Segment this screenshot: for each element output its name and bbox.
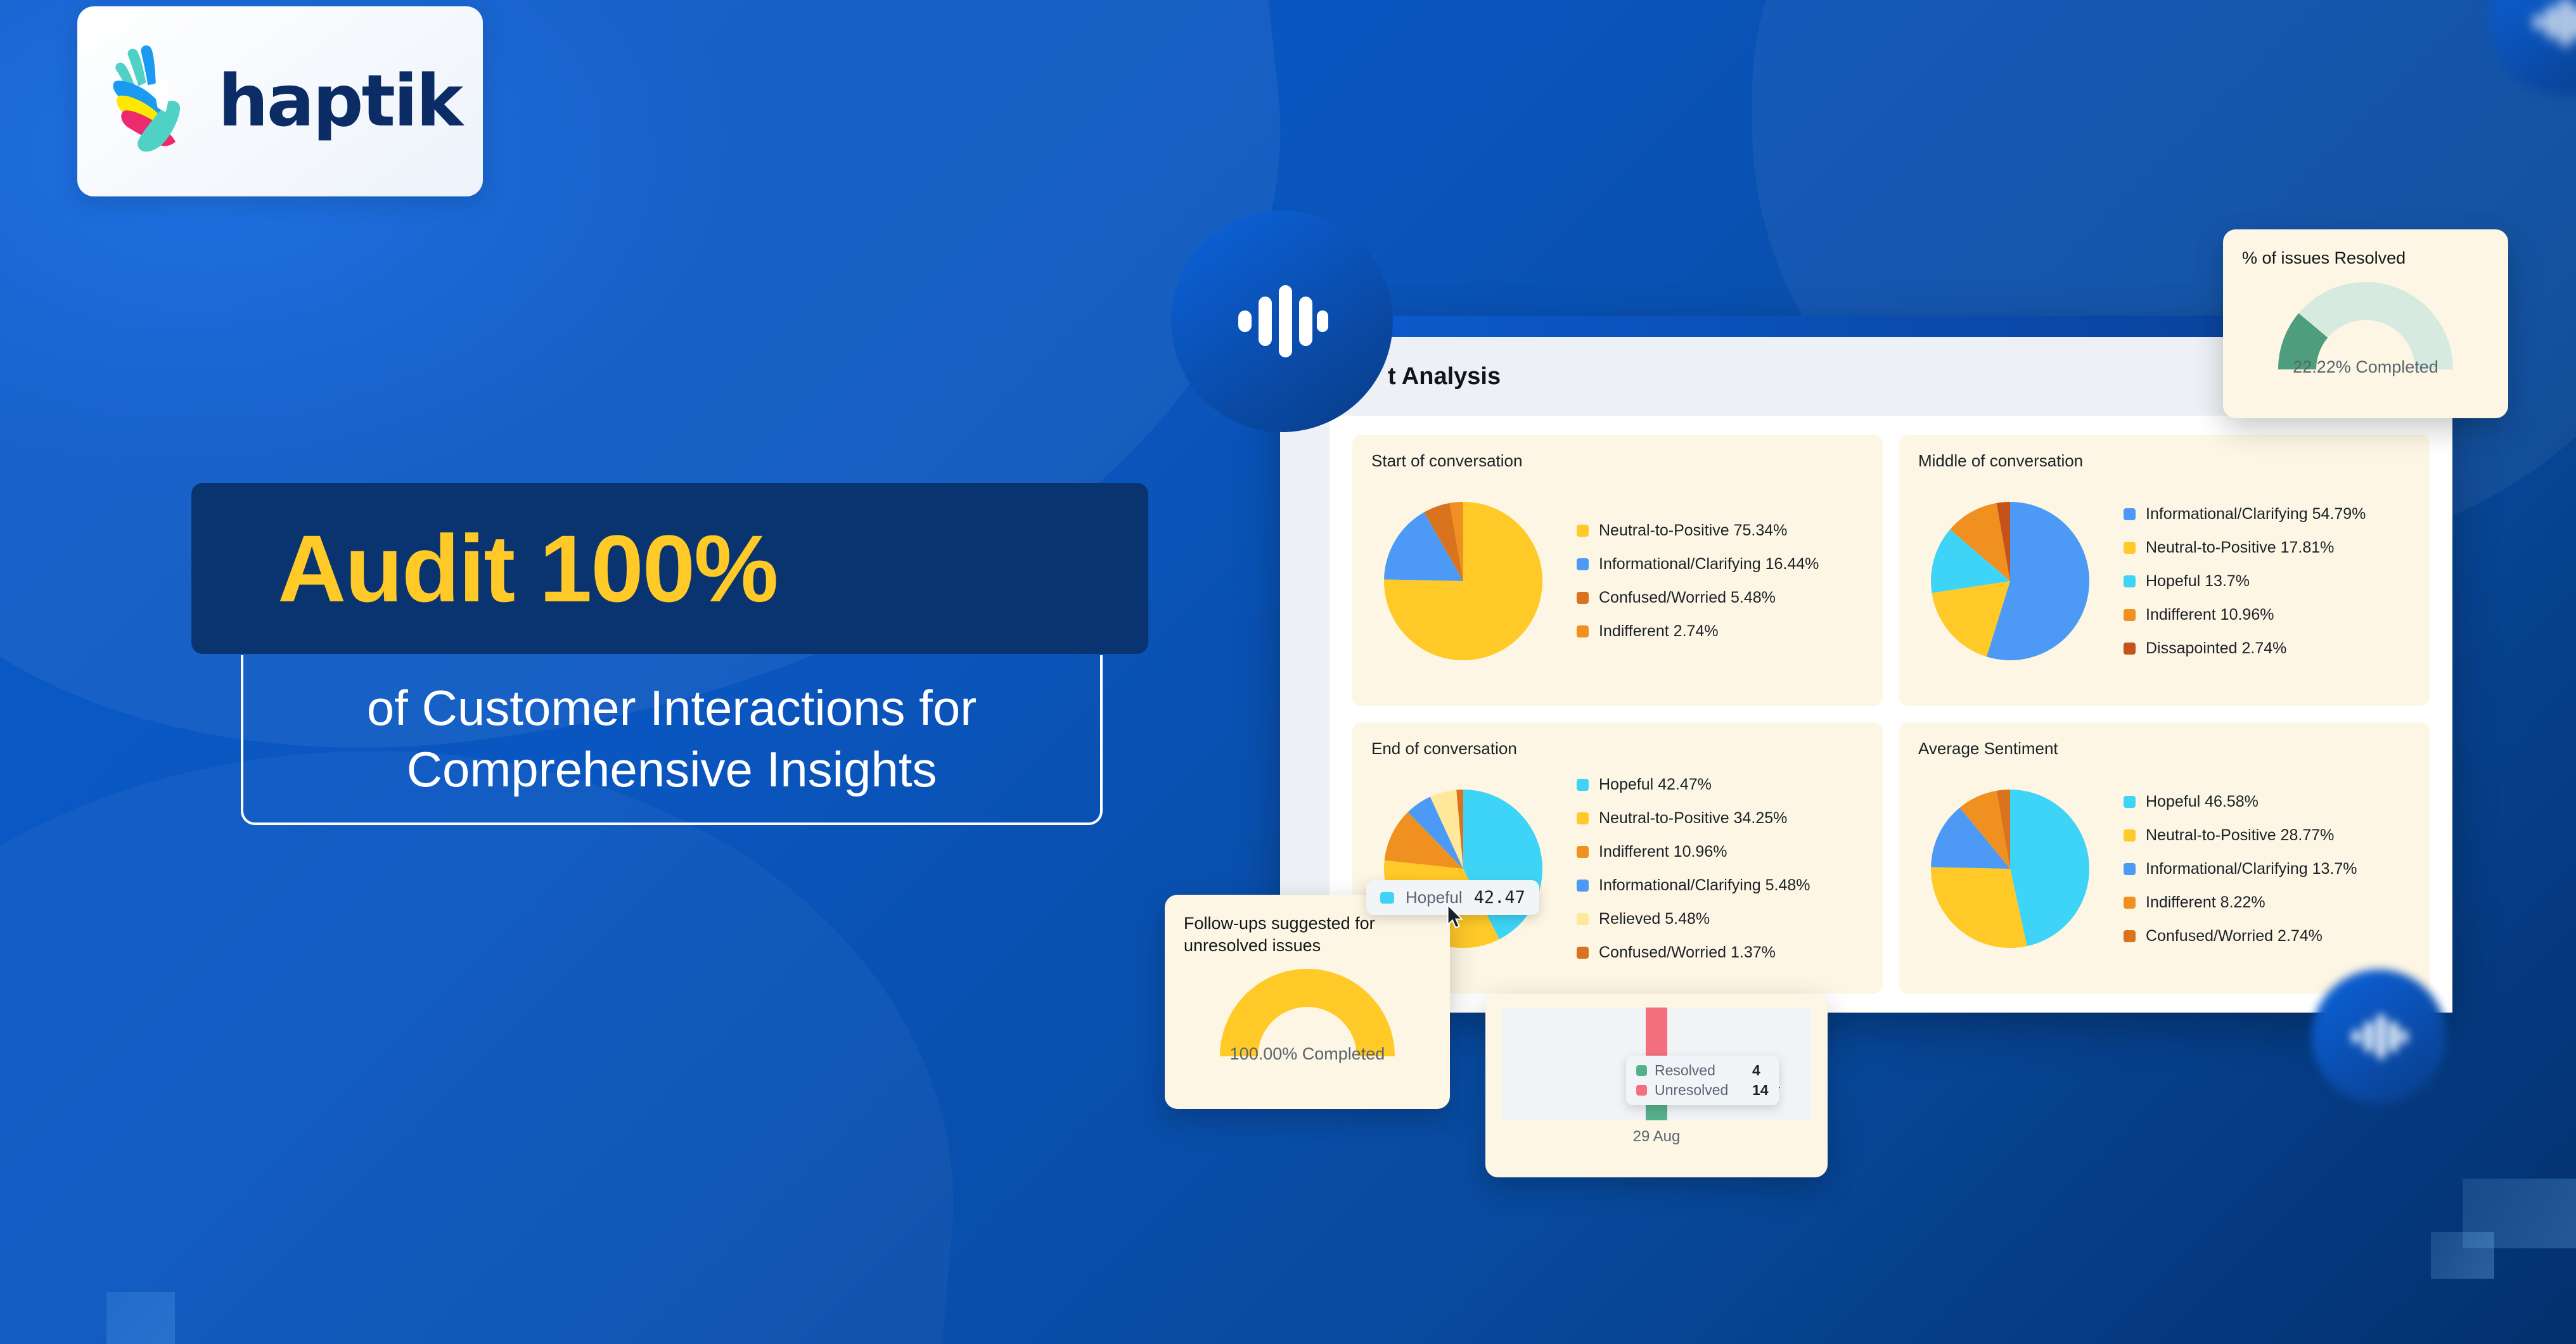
tooltip-color-swatch-unresolved: [1636, 1085, 1647, 1096]
chart-title: Start of conversation: [1371, 451, 1864, 471]
legend-color-swatch: [2124, 575, 2136, 587]
legend-label: Indifferent 8.22%: [2146, 893, 2265, 912]
tooltip-value: 14: [1752, 1082, 1769, 1099]
legend-item[interactable]: Neutral-to-Positive 34.25%: [1577, 809, 1864, 828]
legend-color-swatch: [2124, 796, 2136, 808]
legend-item[interactable]: Indifferent 8.22%: [2124, 893, 2411, 912]
legend-label: Indifferent 10.96%: [1599, 843, 1727, 861]
legend-item[interactable]: Neutral-to-Positive 28.77%: [2124, 826, 2411, 845]
legend-label: Informational/Clarifying 5.48%: [1599, 876, 1810, 895]
dashboard-title: t Analysis: [1388, 363, 1501, 390]
tooltip-color-swatch: [1380, 892, 1394, 904]
legend-label: Informational/Clarifying 16.44%: [1599, 555, 1819, 573]
legend-label: Neutral-to-Positive 28.77%: [2146, 826, 2334, 845]
chart-card-middle-of-conversation: Middle of conversation Informational/Cla…: [1899, 435, 2430, 706]
legend-color-swatch: [1577, 779, 1589, 791]
tooltip-color-swatch-resolved: [1636, 1065, 1647, 1076]
legend-item[interactable]: Neutral-to-Positive 75.34%: [1577, 522, 1864, 540]
legend-label: Informational/Clarifying 54.79%: [2146, 505, 2366, 523]
legend-color-swatch: [2124, 829, 2136, 842]
card-title: % of issues Resolved: [2242, 247, 2489, 269]
subheadline-line-2: Comprehensive Insights: [407, 743, 937, 796]
legend-color-swatch: [2124, 643, 2136, 655]
gauge-value-label: 100.00% Completed: [1230, 1044, 1385, 1064]
audio-waveform-icon-primary[interactable]: [1171, 210, 1393, 432]
chart-title: Average Sentiment: [1918, 739, 2411, 758]
legend-label: Neutral-to-Positive 75.34%: [1599, 522, 1787, 540]
pie-slice[interactable]: [2010, 790, 2089, 946]
legend-label: Hopeful 42.47%: [1599, 776, 1712, 794]
legend-label: Hopeful 46.58%: [2146, 793, 2259, 811]
legend-item[interactable]: Confused/Worried 2.74%: [2124, 927, 2411, 945]
legend-color-swatch: [2124, 897, 2136, 909]
chart-title: Middle of conversation: [1918, 451, 2411, 471]
bar-x-axis-label: 29 Aug: [1502, 1128, 1811, 1146]
bar-tooltip: Resolved 4 Unresolved 14: [1626, 1056, 1779, 1105]
bar-chart-plot[interactable]: Resolved 4 Unresolved 14: [1502, 1008, 1811, 1120]
chart-legend: Hopeful 42.47%Neutral-to-Positive 34.25%…: [1555, 776, 1864, 962]
dashboard-charts-grid: Start of conversation Neutral-to-Positiv…: [1330, 416, 2452, 1013]
legend-color-swatch: [2124, 930, 2136, 942]
tooltip-row-resolved: Resolved 4: [1636, 1062, 1769, 1079]
legend-item[interactable]: Confused/Worried 1.37%: [1577, 944, 1864, 962]
legend-item[interactable]: Hopeful 42.47%: [1577, 776, 1864, 794]
tooltip-value: 42.47: [1474, 888, 1525, 907]
chart-legend: Neutral-to-Positive 75.34%Informational/…: [1555, 522, 1864, 641]
legend-label: Confused/Worried 2.74%: [2146, 927, 2323, 945]
legend-label: Neutral-to-Positive 34.25%: [1599, 809, 1787, 828]
legend-color-swatch: [2124, 609, 2136, 621]
haptik-hand-logo-icon: [99, 43, 207, 160]
legend-item[interactable]: Informational/Clarifying 13.7%: [2124, 860, 2411, 878]
legend-label: Informational/Clarifying 13.7%: [2146, 860, 2357, 878]
card-resolution-bar-chart: Resolved 4 Unresolved 14 29 Aug: [1485, 994, 1828, 1177]
decorative-rect-bottom-left: [106, 1292, 175, 1344]
gauge-value-label: 22.22% Completed: [2293, 357, 2438, 377]
legend-color-swatch: [1577, 525, 1589, 537]
legend-label: Confused/Worried 1.37%: [1599, 944, 1776, 962]
chart-legend: Informational/Clarifying 54.79%Neutral-t…: [2102, 505, 2411, 658]
subheadline-line-1: of Customer Interactions for: [367, 682, 977, 734]
chart-card-average-sentiment: Average Sentiment Hopeful 46.58%Neutral-…: [1899, 722, 2430, 994]
card-followups-suggested: Follow-ups suggested for unresolved issu…: [1165, 895, 1450, 1109]
dashboard-window: t Analysis Start of conversation Neutral…: [1280, 316, 2452, 1013]
legend-item[interactable]: Informational/Clarifying 54.79%: [2124, 505, 2411, 523]
card-percent-issues-resolved: % of issues Resolved 22.22% Completed: [2223, 229, 2508, 418]
legend-color-swatch: [2124, 542, 2136, 554]
tooltip-row-unresolved: Unresolved 14: [1636, 1082, 1769, 1099]
legend-item[interactable]: Hopeful 13.7%: [2124, 572, 2411, 591]
legend-color-swatch: [1577, 947, 1589, 959]
chart-legend: Hopeful 46.58%Neutral-to-Positive 28.77%…: [2102, 793, 2411, 945]
legend-item[interactable]: Indifferent 2.74%: [1577, 622, 1864, 641]
pie-chart-average-sentiment[interactable]: [1918, 774, 2102, 964]
legend-color-swatch: [1577, 880, 1589, 892]
subheadline-box: of Customer Interactions for Comprehensi…: [241, 655, 1103, 825]
legend-label: Hopeful 13.7%: [2146, 572, 2250, 591]
dashboard-body: Start of conversation Neutral-to-Positiv…: [1280, 416, 2452, 1013]
brand-logo-card: haptik: [77, 6, 483, 196]
legend-color-swatch: [1577, 846, 1589, 858]
brand-name: haptik: [218, 66, 461, 137]
legend-label: Indifferent 2.74%: [1599, 622, 1719, 641]
legend-item[interactable]: Informational/Clarifying 5.48%: [1577, 876, 1864, 895]
tooltip-value: 4: [1752, 1062, 1760, 1079]
tooltip-series-name: Resolved: [1655, 1062, 1745, 1079]
tooltip-series-name: Unresolved: [1655, 1082, 1745, 1099]
legend-item[interactable]: Relieved 5.48%: [1577, 910, 1864, 928]
legend-label: Relieved 5.48%: [1599, 910, 1710, 928]
legend-color-swatch: [1577, 625, 1589, 637]
chart-title: End of conversation: [1371, 739, 1864, 758]
legend-item[interactable]: Neutral-to-Positive 17.81%: [2124, 539, 2411, 557]
legend-color-swatch: [1577, 592, 1589, 604]
pie-chart-middle-of-conversation[interactable]: [1918, 486, 2102, 676]
legend-label: Confused/Worried 5.48%: [1599, 589, 1776, 607]
chart-card-start-of-conversation: Start of conversation Neutral-to-Positiv…: [1352, 435, 1883, 706]
headline-box: Audit 100%: [191, 483, 1148, 654]
legend-color-swatch: [1577, 812, 1589, 824]
audio-waveform-icon-bottom-right: [2312, 970, 2446, 1104]
legend-label: Neutral-to-Positive 17.81%: [2146, 539, 2334, 557]
gauge-fill: [1220, 969, 1395, 1056]
legend-item[interactable]: Hopeful 46.58%: [2124, 793, 2411, 811]
page-title: Audit 100%: [278, 521, 778, 616]
card-title: Follow-ups suggested for unresolved issu…: [1184, 912, 1431, 956]
legend-item[interactable]: Indifferent 10.96%: [2124, 606, 2411, 624]
legend-item[interactable]: Dissapointed 2.74%: [2124, 639, 2411, 658]
decorative-rect-bottom-right-b: [2431, 1232, 2494, 1279]
legend-item[interactable]: Informational/Clarifying 16.44%: [1577, 555, 1864, 573]
legend-item[interactable]: Indifferent 10.96%: [1577, 843, 1864, 861]
gauge-followups: 100.00% Completed: [1184, 965, 1431, 1060]
legend-item[interactable]: Confused/Worried 5.48%: [1577, 589, 1864, 607]
legend-color-swatch: [1577, 558, 1589, 570]
legend-label: Dissapointed 2.74%: [2146, 639, 2286, 658]
legend-color-swatch: [1577, 913, 1589, 925]
legend-color-swatch: [2124, 508, 2136, 520]
pie-chart-start-of-conversation[interactable]: [1371, 486, 1555, 676]
legend-label: Indifferent 10.96%: [2146, 606, 2274, 624]
legend-color-swatch: [2124, 863, 2136, 875]
mouse-cursor-icon: [1446, 904, 1465, 934]
gauge-resolved: 22.22% Completed: [2242, 278, 2489, 373]
